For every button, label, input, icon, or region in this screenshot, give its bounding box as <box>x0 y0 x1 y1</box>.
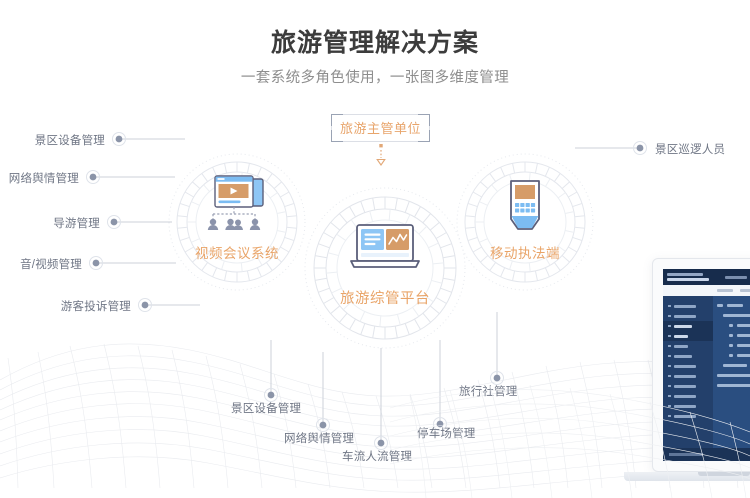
spoke-label-bottom-2[interactable]: 车流人流管理 <box>342 448 412 464</box>
mockup-sidebar <box>663 296 713 448</box>
spoke-label-left-2[interactable]: 导游管理 <box>53 215 100 231</box>
corner-bracket-top-left <box>331 114 343 126</box>
spoke-label-left-0[interactable]: 景区设备管理 <box>35 132 105 148</box>
mockup-tree-row <box>717 350 750 360</box>
dotted-down-arrow-icon <box>372 144 390 168</box>
spoke-label-bottom-1[interactable]: 网络舆情管理 <box>284 430 354 446</box>
mockup-topbar <box>663 269 750 285</box>
mockup-sidebar-item <box>663 301 713 311</box>
laptop-trackpad-notch <box>698 472 750 476</box>
spoke-label-bottom-3[interactable]: 停车场管理 <box>417 425 476 441</box>
page-subtitle: 一套系统多角色使用，一张图多维度管理 <box>0 66 750 87</box>
corner-bracket-bottom-right <box>418 130 430 142</box>
mockup-tree-row <box>717 370 750 380</box>
mockup-logo <box>663 273 717 281</box>
mockup-tree-row <box>717 310 750 320</box>
corner-bracket-bottom-left <box>331 130 343 142</box>
mockup-sidebar-item <box>663 411 713 421</box>
node-tourism-platform[interactable]: 旅游综管平台 <box>303 186 467 350</box>
node-label-tourism-platform: 旅游综管平台 <box>340 287 430 308</box>
video-conference-icon <box>201 174 273 232</box>
spoke-label-right-0[interactable]: 景区巡逻人员 <box>655 141 725 157</box>
mockup-tree-row <box>717 330 750 340</box>
mockup-sidebar-item <box>663 351 713 361</box>
node-mobile-enforcement[interactable]: 移动执法端 <box>455 152 595 292</box>
box-edge-bottom <box>342 141 419 142</box>
spoke-label-bottom-4[interactable]: 旅行社管理 <box>459 383 518 399</box>
mockup-footer <box>663 448 750 461</box>
mockup-sidebar-item <box>663 341 713 351</box>
laptop-screen-bezel <box>652 258 750 472</box>
mockup-top-menu <box>717 276 750 279</box>
mockup-sidebar-item <box>663 321 713 331</box>
mockup-sidebar-item <box>663 371 713 381</box>
mockup-sidebar-item <box>663 361 713 371</box>
authority-label: 旅游主管单位 <box>340 122 421 135</box>
authority-box[interactable]: 旅游主管单位 <box>331 114 430 142</box>
mockup-main-panel <box>713 296 750 448</box>
mockup-sidebar-item <box>663 391 713 401</box>
corner-bracket-top-right <box>418 114 430 126</box>
laptop-screen-content <box>663 269 750 461</box>
mockup-sidebar-item <box>663 311 713 321</box>
page-title: 旅游管理解决方案 <box>0 23 750 59</box>
mockup-tree-row <box>717 340 750 350</box>
mockup-sidebar-item <box>663 381 713 391</box>
mockup-sidebar-item <box>663 401 713 411</box>
spoke-label-bottom-0[interactable]: 景区设备管理 <box>231 400 301 416</box>
box-edge-top <box>342 114 419 115</box>
node-label-mobile-enforcement: 移动执法端 <box>490 242 560 262</box>
mockup-tree-row <box>717 360 750 370</box>
laptop-dashboard-icon <box>345 223 425 273</box>
spoke-label-left-3[interactable]: 音/视频管理 <box>20 256 82 272</box>
spoke-label-left-4[interactable]: 游客投诉管理 <box>61 298 131 314</box>
mockup-tree-row <box>717 320 750 330</box>
mockup-sidebar-item <box>663 331 713 341</box>
mockup-tree-row <box>717 300 750 310</box>
node-label-video-conference: 视频会议系统 <box>195 242 279 262</box>
solution-diagram-page: 旅游管理解决方案 一套系统多角色使用，一张图多维度管理 <box>0 0 750 498</box>
mockup-body <box>663 296 750 448</box>
node-video-conference[interactable]: 视频会议系统 <box>167 152 307 292</box>
spoke-label-left-1[interactable]: 网络舆情管理 <box>9 170 79 186</box>
handheld-device-icon <box>502 179 548 235</box>
mockup-tree-row <box>717 380 750 390</box>
laptop-dashboard-mockup <box>624 252 750 498</box>
mockup-filter-bar <box>663 285 750 296</box>
